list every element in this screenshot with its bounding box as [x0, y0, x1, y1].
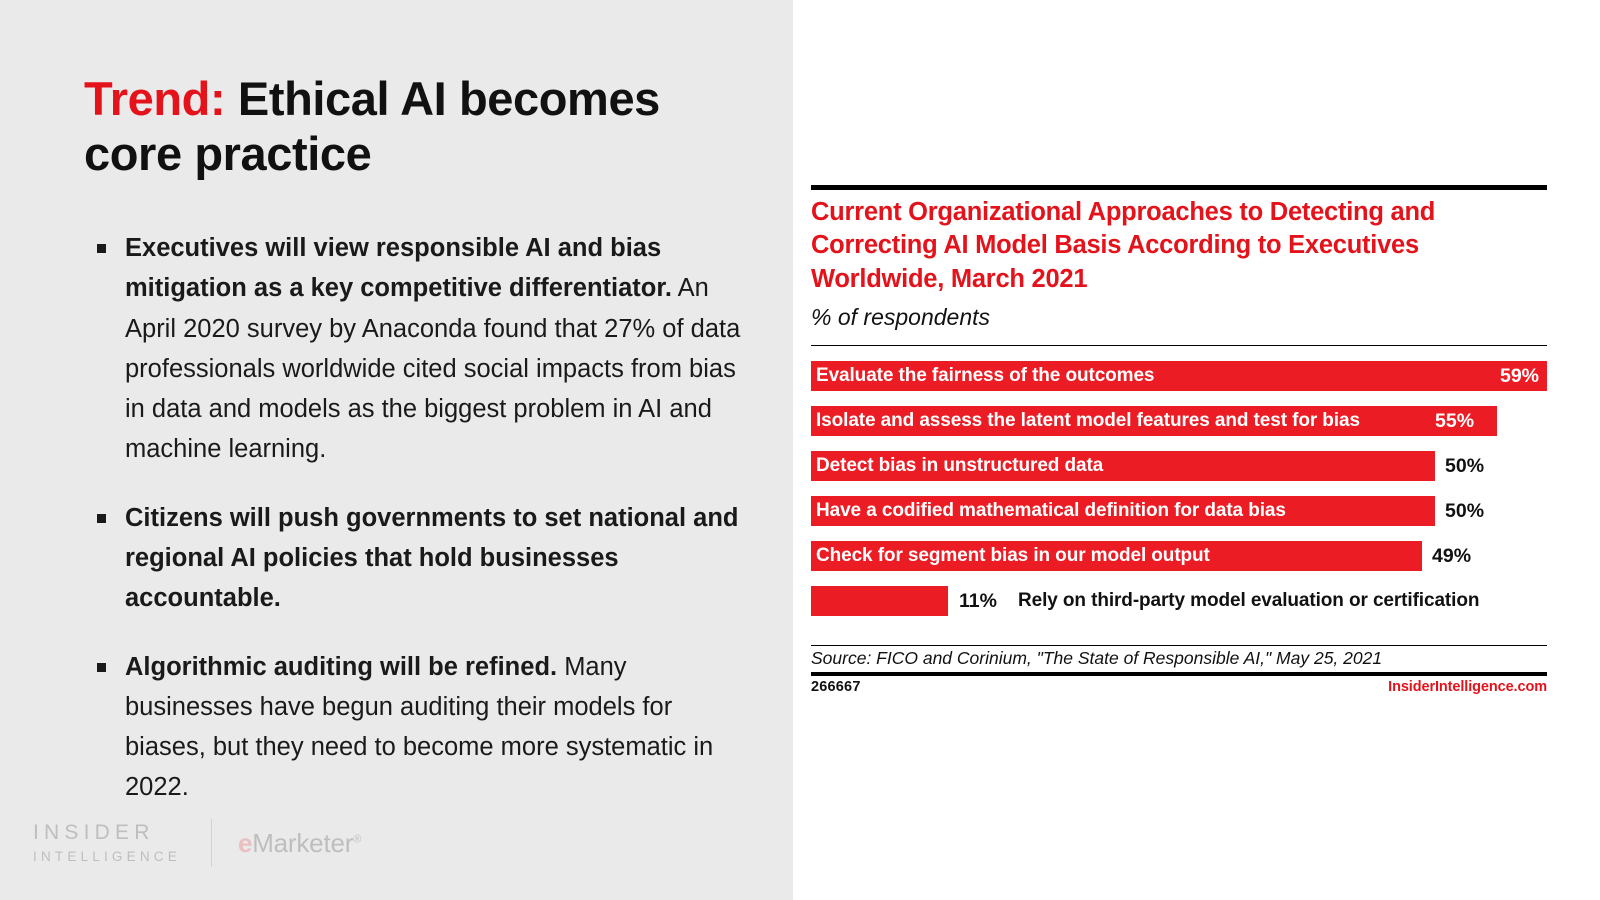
chart-title: Current Organizational Approaches to Det…	[811, 196, 1531, 296]
table-row: Check for segment bias in our model outp…	[811, 541, 1547, 571]
slide-root: Trend: Ethical AI becomes core practice …	[0, 0, 1600, 900]
table-row: Evaluate the fairness of the outcomes 59…	[811, 361, 1547, 391]
bar-value-label: 55%	[1435, 406, 1474, 436]
chart-panel: Current Organizational Approaches to Det…	[811, 0, 1547, 900]
bar-value-label: 11%	[959, 586, 997, 616]
table-row: Isolate and assess the latent model feat…	[811, 406, 1547, 436]
bullet-square-icon	[97, 244, 106, 253]
logo-divider	[211, 819, 212, 867]
chart-id-number: 266667	[811, 679, 861, 695]
page-title: Trend: Ethical AI becomes core practice	[84, 72, 744, 182]
bar-value-label: 50%	[1445, 496, 1484, 526]
source-top-rule	[811, 645, 1547, 646]
bar-category-label: Isolate and assess the latent model feat…	[816, 406, 1360, 436]
chart-source: Source: FICO and Corinium, "The State of…	[811, 648, 1382, 669]
bullet-square-icon	[97, 514, 106, 523]
emarketer-logo: eMarketer®	[238, 828, 361, 859]
brand-logo-lockup: INSIDER INTELLIGENCE eMarketer®	[33, 819, 361, 867]
bar-category-label: Evaluate the fairness of the outcomes	[816, 361, 1154, 391]
bar-value-label: 59%	[1500, 361, 1539, 391]
chart-bars: Evaluate the fairness of the outcomes 59…	[811, 361, 1547, 631]
chart-source-website[interactable]: InsiderIntelligence.com	[1388, 679, 1547, 695]
bar-category-label: Rely on third-party model evaluation or …	[1018, 586, 1479, 616]
list-item: Executives will view responsible AI and …	[84, 228, 744, 470]
list-item: Algorithmic auditing will be refined. Ma…	[84, 647, 744, 808]
bullet-list: Executives will view responsible AI and …	[84, 228, 744, 836]
bar-shape	[811, 586, 948, 616]
chart-top-rule	[811, 185, 1547, 190]
table-row: 11% Rely on third-party model evaluation…	[811, 586, 1547, 616]
bullet-lead-text: Algorithmic auditing will be refined.	[125, 653, 557, 681]
bar-value-label: 50%	[1445, 451, 1484, 481]
bullet-square-icon	[97, 663, 106, 672]
table-row: Detect bias in unstructured data 50%	[811, 451, 1547, 481]
bullet-body-text: An April 2020 survey by Anaconda found t…	[125, 274, 740, 463]
chart-header-rule	[811, 345, 1547, 346]
bar-category-label: Detect bias in unstructured data	[816, 451, 1103, 481]
table-row: Have a codified mathematical definition …	[811, 496, 1547, 526]
left-content-panel: Trend: Ethical AI becomes core practice …	[0, 0, 793, 900]
bullet-lead-text: Executives will view responsible AI and …	[125, 234, 672, 302]
bar-category-label: Check for segment bias in our model outp…	[816, 541, 1210, 571]
insider-logo-line-2: INTELLIGENCE	[33, 850, 181, 864]
source-bottom-rule	[811, 672, 1547, 676]
insider-intelligence-logo: INSIDER INTELLIGENCE	[33, 822, 181, 864]
bar-value-label: 49%	[1432, 541, 1471, 571]
registered-trademark-icon: ®	[353, 833, 361, 845]
chart-subtitle: % of respondents	[811, 304, 990, 331]
headline-trend-label: Trend:	[84, 72, 225, 125]
insider-logo-line-1: INSIDER	[33, 822, 181, 843]
emarketer-logo-text: Marketer	[252, 828, 353, 858]
emarketer-logo-e: e	[238, 828, 252, 858]
bar-category-label: Have a codified mathematical definition …	[816, 496, 1286, 526]
list-item: Citizens will push governments to set na…	[84, 498, 744, 619]
bullet-lead-text: Citizens will push governments to set na…	[125, 504, 739, 613]
